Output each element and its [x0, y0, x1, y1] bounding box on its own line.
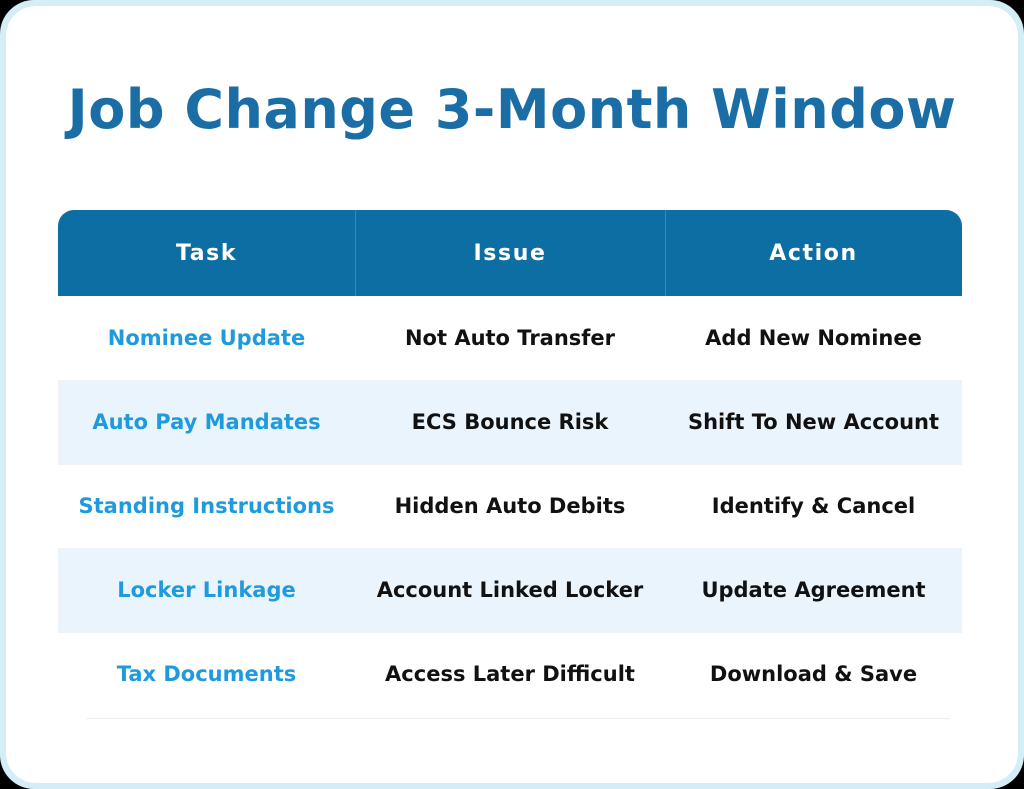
cell-issue: Account Linked Locker	[355, 548, 665, 632]
comparison-table: Task Issue Action Nominee Update Not Aut…	[58, 210, 962, 716]
column-header-task: Task	[58, 210, 355, 296]
page-backdrop: Job Change 3-Month Window Task Issue Act…	[0, 0, 1024, 789]
cell-issue: Not Auto Transfer	[355, 296, 665, 380]
table-header-row: Task Issue Action	[58, 210, 962, 296]
page-title: Job Change 3-Month Window	[6, 78, 1018, 142]
table-bottom-divider	[86, 718, 950, 719]
cell-action: Add New Nominee	[665, 296, 962, 380]
cell-action: Shift To New Account	[665, 380, 962, 464]
table-header: Task Issue Action	[58, 210, 962, 296]
cell-task: Locker Linkage	[58, 548, 355, 632]
cell-task: Standing Instructions	[58, 464, 355, 548]
cell-issue: ECS Bounce Risk	[355, 380, 665, 464]
cell-action: Download & Save	[665, 632, 962, 716]
table-row: Nominee Update Not Auto Transfer Add New…	[58, 296, 962, 380]
table-row: Standing Instructions Hidden Auto Debits…	[58, 464, 962, 548]
table-row: Locker Linkage Account Linked Locker Upd…	[58, 548, 962, 632]
content-card: Job Change 3-Month Window Task Issue Act…	[6, 6, 1018, 783]
cell-issue: Hidden Auto Debits	[355, 464, 665, 548]
table-row: Tax Documents Access Later Difficult Dow…	[58, 632, 962, 716]
table-row: Auto Pay Mandates ECS Bounce Risk Shift …	[58, 380, 962, 464]
cell-action: Update Agreement	[665, 548, 962, 632]
cell-task: Auto Pay Mandates	[58, 380, 355, 464]
table-body: Nominee Update Not Auto Transfer Add New…	[58, 296, 962, 716]
column-header-issue: Issue	[355, 210, 665, 296]
cell-action: Identify & Cancel	[665, 464, 962, 548]
cell-task: Nominee Update	[58, 296, 355, 380]
comparison-table-wrapper: Task Issue Action Nominee Update Not Aut…	[58, 210, 962, 716]
column-header-action: Action	[665, 210, 962, 296]
cell-task: Tax Documents	[58, 632, 355, 716]
cell-issue: Access Later Difficult	[355, 632, 665, 716]
